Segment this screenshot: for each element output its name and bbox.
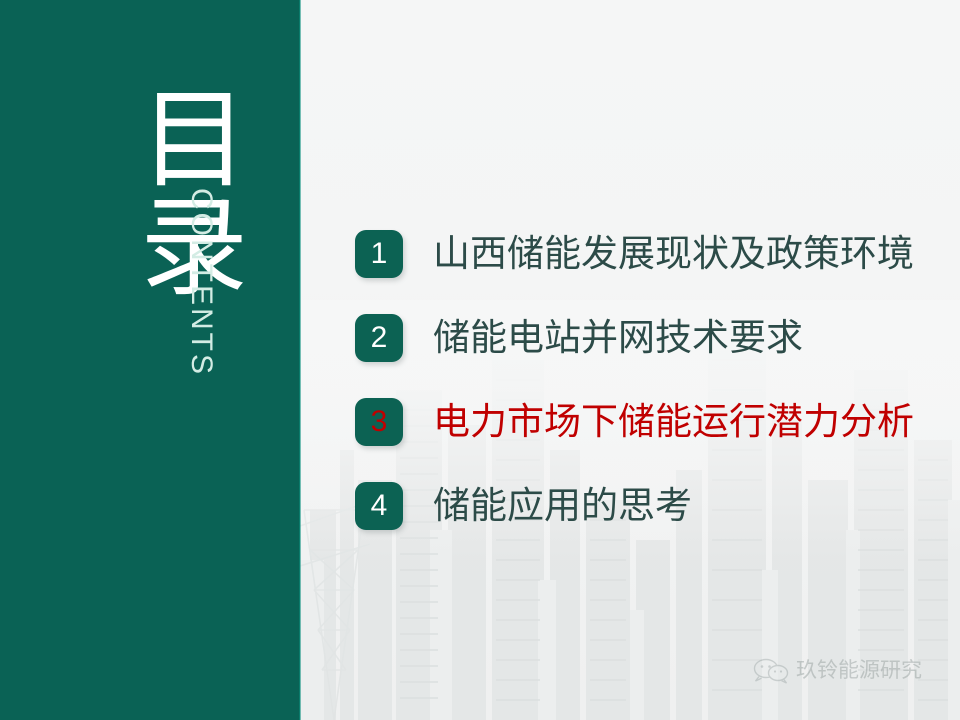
- toc-number-badge-3: 3: [355, 398, 403, 446]
- toc-item-2[interactable]: 2 储能电站并网技术要求: [355, 306, 955, 370]
- toc-number-badge-4: 4: [355, 482, 403, 530]
- page-title-english: CONTENTS: [184, 188, 218, 377]
- toc-label-1: 山西储能发展现状及政策环境: [433, 230, 914, 278]
- toc-number-badge-1: 1: [355, 230, 403, 278]
- wechat-icon: [752, 658, 790, 684]
- table-of-contents: 1 山西储能发展现状及政策环境 2 储能电站并网技术要求 3 电力市场下储能运行…: [355, 222, 955, 558]
- toc-label-4: 储能应用的思考: [433, 482, 692, 530]
- toc-label-3: 电力市场下储能运行潜力分析: [433, 398, 914, 446]
- toc-item-3[interactable]: 3 电力市场下储能运行潜力分析: [355, 390, 955, 454]
- toc-number-badge-2: 2: [355, 314, 403, 362]
- toc-item-4[interactable]: 4 储能应用的思考: [355, 474, 955, 538]
- toc-item-1[interactable]: 1 山西储能发展现状及政策环境: [355, 222, 955, 286]
- page-title-char-1: 目: [140, 86, 260, 194]
- toc-label-2: 储能电站并网技术要求: [433, 314, 803, 362]
- wechat-watermark: 玖铃能源研究: [752, 658, 922, 684]
- wechat-watermark-text: 玖铃能源研究: [796, 658, 922, 684]
- slide-canvas: 目 录 CONTENTS 1 山西储能发展现状及政策环境 2 储能电站并网技术要…: [0, 0, 960, 720]
- panel-edge-divider: [299, 0, 301, 720]
